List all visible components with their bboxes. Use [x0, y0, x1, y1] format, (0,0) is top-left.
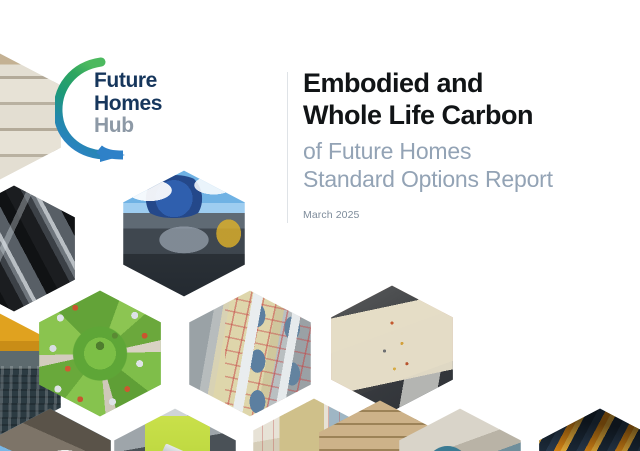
logo-line-future: Future [94, 70, 162, 93]
photo-concrete-blocks [0, 53, 62, 180]
photo-digger-water [0, 313, 62, 440]
hex-tile-timber-frame [252, 398, 376, 451]
page-title-line-2: Whole Life Carbon [303, 100, 603, 132]
hex-tile-pipe-insulation [398, 408, 522, 451]
report-cover-page: Future Homes Hub Embodied and Whole Life… [0, 0, 640, 451]
page-title-line-1: Embodied and [303, 68, 603, 100]
photo-sky-road [0, 408, 112, 451]
photo-aerial-estate [38, 290, 162, 417]
hex-tile-steel-beams [0, 185, 76, 312]
publication-date: March 2025 [303, 209, 603, 221]
photo-brick-wall [318, 400, 442, 451]
logo-wordmark: Future Homes Hub [94, 70, 162, 138]
page-subtitle-line-2: Standard Options Report [303, 165, 603, 193]
logo-line-homes: Homes [94, 93, 162, 116]
hex-tile-digger-water [0, 313, 62, 440]
photo-worker-trowel [113, 408, 237, 451]
photo-hands-backdrop [330, 285, 454, 412]
title-block: Embodied and Whole Life Carbon of Future… [303, 68, 603, 221]
hex-tile-worker-trowel [113, 408, 237, 451]
future-homes-hub-logo: Future Homes Hub [55, 56, 175, 164]
photo-aggregate-samples [330, 285, 454, 412]
hex-tile-aerial-estate [38, 290, 162, 417]
hex-tile-machinery [538, 408, 640, 451]
photo-steel-beams [0, 185, 76, 312]
photo-machinery [538, 408, 640, 451]
title-divider-rule [287, 72, 288, 223]
hex-tile-roofer [122, 170, 246, 297]
hex-tile-brick-wall [318, 400, 442, 451]
photo-insulated-facade [188, 290, 312, 417]
logo-line-hub: Hub [94, 115, 162, 138]
hex-tile-aggregate-samples [330, 285, 454, 412]
hex-tile-insulated-facade [188, 290, 312, 417]
photo-pipe-insulation [398, 408, 522, 451]
photo-roofer [122, 170, 246, 297]
hex-tile-concrete-blocks [0, 53, 62, 180]
photo-timber-frame [252, 398, 376, 451]
hex-tile-sky-road [0, 408, 112, 451]
page-subtitle-line-1: of Future Homes [303, 137, 603, 165]
